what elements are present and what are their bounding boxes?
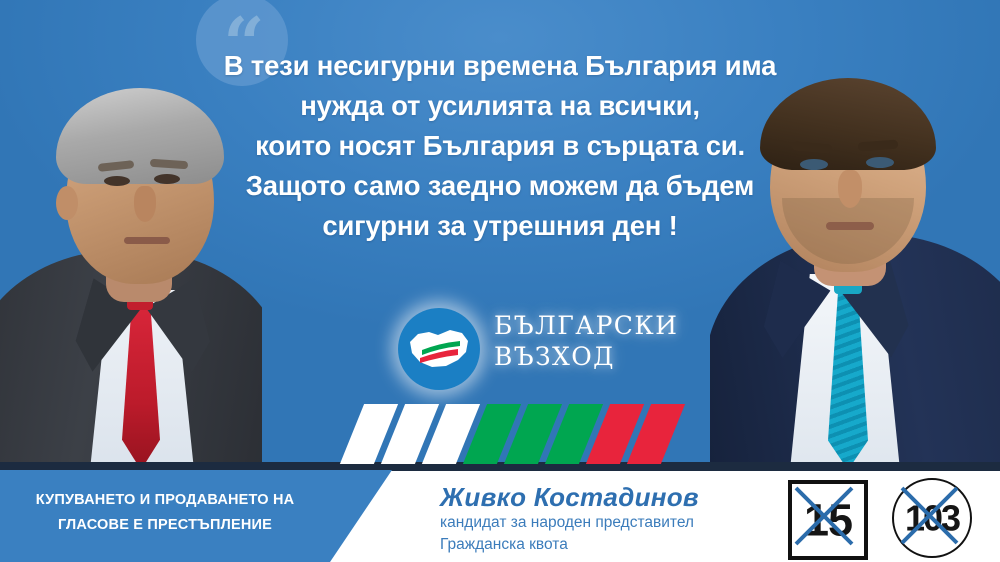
ballot-square-x-icon (792, 484, 856, 548)
left-eye-left (104, 176, 130, 186)
candidate-info: Живко Костадинов кандидат за народен пре… (440, 482, 770, 556)
quote-line-1: В тези несигурни времена България има (200, 46, 800, 86)
left-eye-right (154, 174, 180, 184)
candidate-quota: Гражданска квота (440, 534, 770, 556)
quote-line-3: които носят България в сърцата си. (200, 126, 800, 166)
tricolor-stripe-band (352, 404, 682, 464)
party-name-line1: БЪЛГАРСКИ (494, 310, 678, 341)
party-logo: БЪЛГАРСКИ ВЪЗХОД (398, 306, 628, 392)
party-name-line2: ВЪЗХОД (494, 341, 678, 372)
ballot-circle-x-icon (894, 480, 965, 551)
right-eye-right (866, 157, 894, 168)
candidate-name: Живко Костадинов (440, 482, 770, 512)
quote-line-2: нужда от усилията на всички, (200, 86, 800, 126)
emblem-svg (398, 308, 480, 390)
right-mouth (826, 222, 874, 230)
bulgaria-map-emblem (398, 308, 480, 390)
campaign-poster: “ В тези несигурни времена България има … (0, 0, 1000, 562)
left-gray-hair (56, 88, 224, 184)
left-mouth (124, 237, 170, 244)
left-ear (56, 186, 78, 220)
ballot-number-circle: 103 (892, 478, 972, 558)
right-nose (838, 170, 862, 208)
warning-line-2: ГЛАСОВЕ Е ПРЕСТЪПЛЕНИЕ (0, 513, 330, 538)
quote-line-5: сигурни за утрешния ден ! (200, 206, 800, 246)
candidate-role: кандидат за народен представител (440, 512, 770, 534)
party-name: БЪЛГАРСКИ ВЪЗХОД (494, 310, 678, 372)
ballot-number-square: 15 (788, 480, 868, 560)
left-nose (134, 186, 156, 222)
vote-buying-warning: КУПУВАНЕТО И ПРОДАВАНЕТО НА ГЛАСОВЕ Е ПР… (0, 488, 330, 538)
quote-text: В тези несигурни времена България има ну… (200, 46, 800, 246)
quote-line-4: Защото само заедно можем да бъдем (200, 166, 800, 206)
vote-buying-warning-band: КУПУВАНЕТО И ПРОДАВАНЕТО НА ГЛАСОВЕ Е ПР… (0, 470, 392, 562)
warning-line-1: КУПУВАНЕТО И ПРОДАВАНЕТО НА (0, 488, 330, 513)
right-eye-left (800, 159, 828, 170)
